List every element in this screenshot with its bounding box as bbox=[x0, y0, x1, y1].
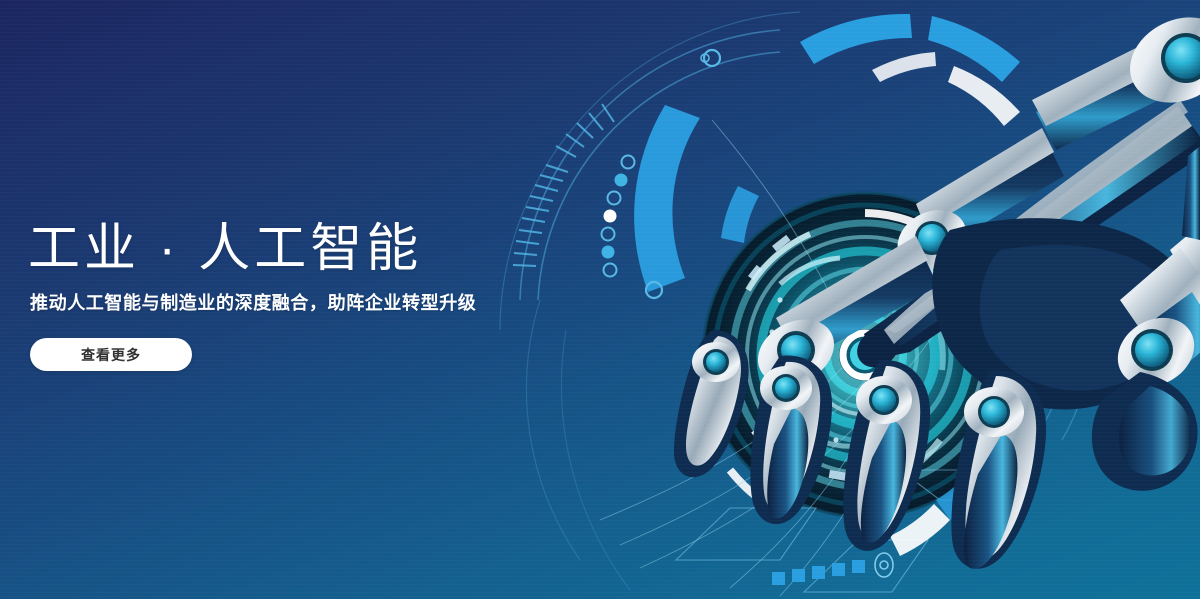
page-title: 工业 · 人工智能 bbox=[28, 218, 476, 280]
hud-tick-fan bbox=[513, 104, 614, 266]
hero-banner: 工业 · 人工智能 推动人工智能与制造业的深度融合，助阵企业转型升级 查看更多 bbox=[0, 0, 1200, 599]
cta-container: 查看更多 bbox=[30, 338, 476, 371]
hud-small-target bbox=[875, 553, 893, 577]
hero-subtitle: 推动人工智能与制造业的深度融合，助阵企业转型升级 bbox=[30, 290, 476, 316]
hud-bottom-squares bbox=[772, 560, 865, 585]
ai-tech-illustration bbox=[480, 0, 1200, 599]
hud-dot-column bbox=[602, 156, 635, 277]
view-more-button[interactable]: 查看更多 bbox=[30, 338, 192, 371]
hero-copy-block: 工业 · 人工智能 推动人工智能与制造业的深度融合，助阵企业转型升级 查看更多 bbox=[28, 218, 476, 371]
hud-top-blades bbox=[800, 14, 1020, 126]
